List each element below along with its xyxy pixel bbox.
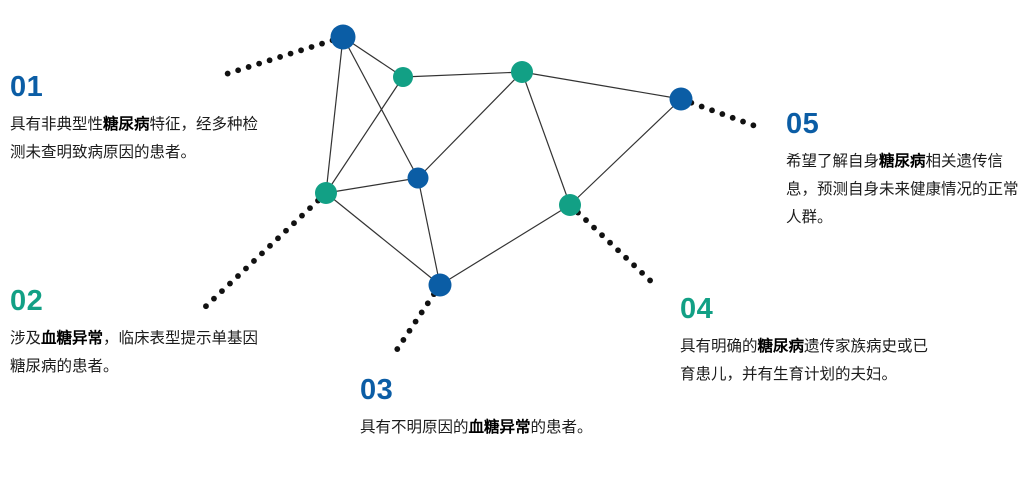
- text-run: 具有明确的: [680, 338, 758, 355]
- connector-to-item-03-dot: [400, 337, 406, 343]
- graph-edge: [403, 72, 522, 77]
- connector-to-item-01-dot: [298, 47, 304, 53]
- connector-to-item-01-dot: [319, 41, 325, 47]
- graph-edge: [326, 193, 440, 285]
- connector-to-item-02-dot: [275, 235, 281, 241]
- connector-to-item-04-dot: [583, 217, 589, 223]
- info-item-03: 03 具有不明原因的血糖异常的患者。: [360, 375, 610, 442]
- info-item-02: 02 涉及血糖异常，临床表型提示单基因糖尿病的患者。: [10, 286, 272, 381]
- connector-to-item-04-dot: [615, 247, 621, 253]
- connector-to-item-04-dot: [631, 262, 637, 268]
- connector-to-item-03-dot: [419, 310, 425, 316]
- connector-to-item-02-dot: [243, 266, 249, 272]
- connector-to-item-04-dot: [575, 210, 581, 216]
- connector-to-item-05-dot: [699, 104, 705, 110]
- connector-to-item-05-dot: [709, 107, 715, 113]
- item-text-02: 涉及血糖异常，临床表型提示单基因糖尿病的患者。: [10, 325, 272, 380]
- connector-to-item-04-dot: [647, 278, 653, 284]
- connector-to-item-01-dot: [277, 54, 283, 60]
- connector-to-item-05-dot: [730, 115, 736, 121]
- graph-edge: [522, 72, 681, 99]
- connector-to-item-04-dot: [623, 255, 629, 261]
- graph-blue-node: [408, 168, 429, 189]
- graph-blue-node: [429, 274, 452, 297]
- item-number-03: 03: [360, 375, 610, 405]
- connector-to-item-03-dot: [394, 346, 400, 352]
- connector-to-item-02-dot: [315, 198, 321, 204]
- connector-to-item-01-dot: [267, 57, 273, 63]
- connector-to-item-03-dot: [431, 291, 437, 297]
- edge-layer: [326, 37, 681, 285]
- connector-to-item-02-dot: [307, 205, 313, 211]
- item-text-01: 具有非典型性糖尿病特征，经多种检测未查明致病原因的患者。: [10, 111, 265, 166]
- text-run: 希望了解自身: [786, 153, 879, 170]
- connector-to-item-03-dot: [425, 300, 431, 306]
- connector-to-item-03-dot: [407, 328, 413, 334]
- item-text-03: 具有不明原因的血糖异常的患者。: [360, 414, 610, 442]
- item-text-04: 具有明确的糖尿病遗传家族病史或已育患儿，并有生育计划的夫妇。: [680, 333, 935, 388]
- text-run: 具有不明原因的: [360, 419, 469, 436]
- connector-to-item-01-dot: [330, 37, 336, 43]
- connector-to-item-01-dot: [309, 44, 315, 50]
- connector-to-item-05-dot: [740, 119, 746, 125]
- connector-to-item-02-dot: [267, 243, 273, 249]
- connector-to-item-04-dot: [639, 270, 645, 276]
- graph-teal-node: [511, 61, 533, 83]
- connector-to-item-04-dot: [591, 225, 597, 231]
- connector-to-item-02-dot: [299, 213, 305, 219]
- graph-edge: [343, 37, 418, 178]
- item-number-02: 02: [10, 286, 272, 316]
- info-item-01: 01 具有非典型性糖尿病特征，经多种检测未查明致病原因的患者。: [10, 72, 265, 167]
- text-run: 的患者。: [531, 419, 593, 436]
- graph-edge: [418, 72, 522, 178]
- connector-to-item-05-dot: [750, 122, 756, 128]
- graph-edge: [326, 178, 418, 193]
- item-number-05: 05: [786, 109, 1020, 139]
- connector-to-item-02-dot: [235, 273, 241, 279]
- text-run: 具有非典型性: [10, 116, 103, 133]
- graph-teal-node: [315, 182, 337, 204]
- graph-teal-node: [559, 194, 581, 216]
- connector-to-item-01-dot: [288, 51, 294, 57]
- info-item-05: 05 希望了解自身糖尿病相关遗传信息，预测自身未来健康情况的正常人群。: [786, 109, 1020, 231]
- graph-edge: [522, 72, 570, 205]
- graph-edge: [418, 178, 440, 285]
- emphasis-term: 糖尿病: [103, 116, 150, 133]
- graph-blue-node: [670, 88, 693, 111]
- item-number-01: 01: [10, 72, 265, 102]
- emphasis-term: 血糖异常: [469, 419, 531, 436]
- connector-to-item-01-dot: [256, 61, 262, 67]
- emphasis-term: 糖尿病: [758, 338, 805, 355]
- node-layer: [315, 25, 693, 297]
- connector-to-item-02-dot: [283, 228, 289, 234]
- emphasis-term: 糖尿病: [879, 153, 926, 170]
- connector-to-item-02-dot: [251, 258, 257, 264]
- emphasis-term: 血糖异常: [41, 330, 103, 347]
- item-text-05: 希望了解自身糖尿病相关遗传信息，预测自身未来健康情况的正常人群。: [786, 148, 1020, 231]
- item-number-04: 04: [680, 294, 935, 324]
- graph-edge: [326, 77, 403, 193]
- connector-to-item-02-dot: [259, 250, 265, 256]
- graph-edge: [440, 205, 570, 285]
- connector-to-item-01-dot: [246, 64, 252, 70]
- connector-to-item-02-dot: [291, 220, 297, 226]
- graph-edge: [343, 37, 403, 77]
- graph-blue-node: [331, 25, 356, 50]
- info-item-04: 04 具有明确的糖尿病遗传家族病史或已育患儿，并有生育计划的夫妇。: [680, 294, 935, 389]
- connector-to-item-05-dot: [688, 100, 694, 106]
- connector-to-item-05-dot: [719, 111, 725, 117]
- graph-teal-node: [393, 67, 413, 87]
- connector-to-item-03-dot: [413, 319, 419, 325]
- connector-to-item-04-dot: [607, 240, 613, 246]
- dotted-connector-layer: [203, 37, 756, 352]
- connector-to-item-04-dot: [599, 232, 605, 238]
- graph-edge: [326, 37, 343, 193]
- graph-edge: [570, 99, 681, 205]
- text-run: 涉及: [10, 330, 41, 347]
